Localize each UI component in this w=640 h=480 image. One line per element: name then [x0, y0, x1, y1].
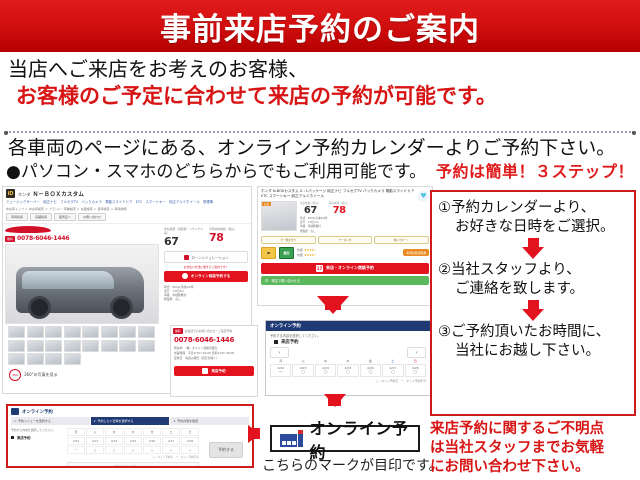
- tel-number[interactable]: 0078-6046-1446: [17, 235, 69, 242]
- form-step-1[interactable]: 1. 予約メニューを選択する: [11, 417, 90, 425]
- thumbnail[interactable]: [82, 340, 99, 352]
- form-date[interactable]: 4/28: [181, 437, 199, 445]
- form-availability[interactable]: ○: [143, 446, 161, 454]
- step-3-line-2: 当社にお越し下さい。: [438, 342, 628, 361]
- arrow-head-icon: [522, 247, 544, 259]
- calendar-availability: ○: [361, 370, 380, 375]
- form-option-label: 来店予約: [17, 435, 31, 440]
- page-title: 事前来店予約のご案内: [160, 4, 480, 49]
- detail-price-total: 支払総額（税込） 67: [300, 201, 321, 216]
- form-step-breadcrumb[interactable]: 1. 予約メニューを選択する 2. 予約したい日時を選択する 3. 予約内容を確…: [8, 417, 252, 425]
- calendar-day-cell[interactable]: 4/24 ○: [315, 364, 336, 377]
- favorite-heart-icon[interactable]: ♥: [418, 191, 429, 202]
- thumbnail[interactable]: [27, 353, 44, 365]
- calendar-icon: 17: [316, 265, 323, 272]
- phone-handset-icon: ✆: [265, 278, 268, 283]
- notice-line-2: は当社スタッフまでお気軽: [430, 439, 638, 458]
- radio-selected-icon: [11, 436, 14, 439]
- step-1-line-1: ①予約カレンダーより、: [438, 200, 595, 216]
- phone-card-number[interactable]: 0078-6046-1446: [171, 336, 257, 344]
- radio-selected-icon: [274, 340, 278, 344]
- intro-line-4: ●パソコン・スマホのどちらからでもご利用可能です。: [6, 161, 426, 183]
- calendar-icon: [202, 368, 208, 374]
- calendar-dow: 土: [382, 359, 403, 363]
- three-steps-panel: ①予約カレンダーより、 お好きな日時をご選択。 ②当社スタッフより、 ご連絡を致…: [430, 190, 636, 416]
- rating-stars-group: 外装 ★★★★☆ 内装 ★★★★☆: [297, 248, 316, 257]
- id-badge-icon: iD: [261, 247, 276, 259]
- price-body-value: 78: [209, 231, 250, 244]
- form-left-pane: 予約する内容を選択してください。 来店予約: [11, 428, 63, 468]
- car-photo-window: [22, 271, 114, 289]
- car-detail-title-text: ホンダ N-BOXカスタム G・Lパッケージ 純正ナビ フルセグTV バックカメ…: [261, 189, 414, 198]
- thumbnail[interactable]: [64, 326, 81, 338]
- calendar-availability: ○: [316, 370, 335, 375]
- thumbnail[interactable]: [119, 326, 136, 338]
- step-arrow-2: [438, 300, 628, 321]
- three-steps-tagline: 予約は簡単！３ステップ！: [436, 161, 634, 183]
- listing-tel-row[interactable]: 無料 0078-6046-1446: [5, 235, 159, 242]
- condition-report-button[interactable]: 車両状態評価書: [403, 249, 429, 256]
- price-total: 支払総額（消費税・リサイクル等） 67: [164, 227, 205, 248]
- stock-tag: 在庫: [262, 202, 271, 206]
- arrow-head-icon: [248, 425, 260, 443]
- form-dow: 火: [86, 428, 104, 436]
- calendar-day-cell[interactable]: 4/23 ○: [292, 364, 313, 377]
- step-3: ③ご予約頂いたお時間に、 当社にお越し下さい。: [438, 323, 628, 361]
- listing-spec-list: 年式 2012(平成24)年 走行 7.8万km 車検 車検整備付 修復歴 なし: [164, 285, 248, 301]
- shop-building-icon: [280, 430, 303, 447]
- pill-coupon[interactable]: クーポン付: [318, 236, 373, 244]
- car-detail-rows: 年式 2012(平成24)年 走行 7.8万km 車検 車検整備付 修復歴 なし: [300, 217, 429, 234]
- detail-price-body-value: 78: [329, 205, 350, 216]
- calendar-note: 予約する内容を選択してください。: [266, 331, 430, 339]
- calendar-day-cell[interactable]: 4/28 ○: [405, 364, 426, 377]
- form-date[interactable]: 4/22: [67, 437, 85, 445]
- form-availability[interactable]: ○: [162, 446, 180, 454]
- thumbnail[interactable]: [8, 340, 25, 352]
- online-consult-button[interactable]: オンライン商談予約する: [164, 271, 248, 282]
- guide-page: 事前来店予約のご案内 当店へご来店をお考えのお客様、 お客様のご予定に合わせて来…: [0, 0, 640, 480]
- step-2-line-1: ②当社スタッフより、: [438, 262, 581, 278]
- tab-vehicle-info[interactable]: 車両情報: [6, 213, 28, 221]
- arrow-detail-to-calendar: [325, 296, 341, 310]
- camera-360-icon: 360: [9, 369, 21, 381]
- phone-card-reserve-button[interactable]: 来店予約: [174, 366, 254, 376]
- online-reservation-caption: こちらのマークが目印です。: [262, 455, 443, 475]
- form-availability[interactable]: ○: [181, 446, 199, 454]
- car-detail-pills[interactable]: グー鑑定付き クーポン付 購入サポート: [258, 235, 432, 245]
- phone-card-row: 定休日 毎週火曜日（祝日を除く）: [174, 356, 254, 361]
- phone-card-header: 無料 お電話でのお問い合わせ・ご来店予約: [171, 326, 257, 336]
- listing-model: Ｎ－ＢＯＸカスタム: [33, 192, 84, 198]
- car-photo-wheel-front: [28, 296, 51, 319]
- form-step-2[interactable]: 2. 予約したい日時を選択する: [91, 417, 170, 425]
- shop-icon: [11, 408, 19, 415]
- price-total-label: 支払総額（消費税・リサイクル等）: [164, 227, 205, 235]
- visit-online-reserve-button[interactable]: 17 来店・オンライン商談予約: [261, 263, 429, 274]
- thumbnail[interactable]: [138, 340, 155, 352]
- intro-line-1: 当店へご来店をお考えのお客様、: [0, 56, 640, 82]
- thumbnail[interactable]: [119, 340, 136, 352]
- calendar-option-label: 来店予約: [281, 339, 299, 345]
- calendar-header: オンライン予約: [266, 321, 430, 331]
- online-consult-label: オンライン商談予約する: [191, 274, 231, 279]
- step-2: ②当社スタッフより、 ご連絡を致します。: [438, 261, 628, 299]
- listing-title-row: iD ホンダ Ｎ－ＢＯＸカスタム: [3, 187, 251, 200]
- step-1-line-2: お好きな日時をご選択。: [438, 218, 628, 237]
- calendar-availability: ○: [383, 370, 402, 375]
- thumbnail[interactable]: [138, 326, 155, 338]
- form-dow: 土: [162, 428, 180, 436]
- thumbnail[interactable]: [8, 326, 25, 338]
- site-logo-icon: iD: [6, 189, 15, 198]
- arrow-head-icon: [522, 309, 544, 321]
- phone-card-rows: 所在地 （株）ダイシン自動車販売 営業時間 平日9:30～19:00 日祝9:3…: [171, 344, 257, 363]
- rating-interior-stars: ★★★★☆: [304, 253, 316, 257]
- tab-contact[interactable]: お問い合わせ: [78, 213, 106, 221]
- visit-online-reserve-label: 来店・オンライン商談予約: [326, 265, 374, 271]
- form-body: 予約する内容を選択してください。 来店予約 月 火 水 木 金 土 日 4/22…: [8, 425, 252, 468]
- car-detail-rating: iD 鑑定 外装 ★★★★☆ 内装 ★★★★☆ 車両状態評価書: [258, 245, 432, 261]
- thumbnail[interactable]: [64, 353, 81, 365]
- calendar-dow: 水: [315, 359, 336, 363]
- form-calendar-grid[interactable]: 月 火 水 木 金 土 日 4/22 4/23 4/24 4/25 4/26 4…: [67, 428, 199, 454]
- calendar-availability: ○: [293, 370, 312, 375]
- form-availability[interactable]: ○: [124, 446, 142, 454]
- car-detail-main: 在庫 支払総額（税込） 67 車両本体（税込） 78 年式 2012(平成24)…: [258, 200, 432, 235]
- online-reservation-calendar-screenshot: オンライン予約 予約する内容を選択してください。 来店予約 ‹ › 月 火 水 …: [265, 320, 431, 396]
- listing-title: ホンダ Ｎ－ＢＯＸカスタム: [18, 190, 84, 198]
- calendar-day-cell[interactable]: 4/22 ー: [270, 364, 291, 377]
- spec-row: 修復歴 なし: [164, 297, 248, 301]
- arrow-form-to-button: [248, 428, 260, 439]
- form-dow: 木: [124, 428, 142, 436]
- photo-thumbnail-strip[interactable]: [5, 324, 159, 367]
- notice-line-3: にお問い合わせ下さい。: [430, 458, 638, 477]
- calendar-availability: ー: [271, 370, 290, 375]
- dealer-logo-swoosh: [5, 226, 51, 233]
- form-date[interactable]: 4/25: [124, 437, 142, 445]
- form-dow: 金: [143, 428, 161, 436]
- arrow-head-icon: [317, 296, 349, 314]
- form-step-3[interactable]: 3. 予約内容を確認: [170, 417, 249, 425]
- tel-free-badge: 無料: [5, 236, 15, 242]
- phone-icon: [182, 273, 188, 279]
- reservation-form-screenshot: オンライン予約 1. 予約メニューを選択する 2. 予約したい日時を選択する 3…: [6, 404, 254, 468]
- intro-block: 当店へご来店をお考えのお客様、 お客様のご予定に合わせて来店の予約が可能です。: [0, 56, 640, 110]
- phone-card-screenshot: 無料 お電話でのお問い合わせ・ご来店予約 0078-6046-1446 所在地 …: [170, 325, 258, 397]
- calendar-dow: 金: [360, 359, 381, 363]
- listing-brand: ホンダ: [18, 192, 31, 197]
- listing-left-column: 無料 0078-6046-1446: [3, 224, 161, 385]
- thumbnail[interactable]: [45, 353, 62, 365]
- thumbnail[interactable]: [101, 326, 118, 338]
- breadcrumb: 中古車トップ ＞ 中古車検索 ＞ ブランド・車種検索 ＞ 在庫検索 ＞ 愛車検索…: [3, 205, 251, 212]
- step-2-line-2: ご連絡を致します。: [438, 280, 628, 299]
- calendar-day-cell[interactable]: 4/25 ○: [337, 364, 358, 377]
- form-availability[interactable]: ○: [86, 446, 104, 454]
- form-hint: 予約する内容を選択してください。: [11, 428, 63, 432]
- thumbnail[interactable]: [8, 353, 25, 365]
- form-legend: ○：ネット予約可 ー：ネット予約不可: [67, 455, 199, 459]
- form-date[interactable]: 4/27: [162, 437, 180, 445]
- loan-simulation-label: ローンシミュレーション: [192, 255, 229, 260]
- thumbnail[interactable]: [82, 326, 99, 338]
- calendar-day-cell[interactable]: 4/26 ○: [360, 364, 381, 377]
- calendar-dow: 木: [337, 359, 358, 363]
- car-detail-title: ホンダ N-BOXカスタム G・Lパッケージ 純正ナビ フルセグTV バックカメ…: [258, 187, 432, 200]
- form-date[interactable]: 4/26: [143, 437, 161, 445]
- detail-price-body: 車両本体（税込） 78: [329, 201, 350, 216]
- calendar-dow: 日: [405, 359, 426, 363]
- pill-inspection[interactable]: グー鑑定付き: [261, 236, 316, 244]
- calendar-next-button[interactable]: ›: [407, 347, 426, 358]
- form-submit-pane: 予約する: [203, 428, 249, 468]
- online-reservation-mark-button[interactable]: オンライン予約: [270, 425, 420, 452]
- form-option-visit[interactable]: 来店予約: [11, 435, 63, 440]
- arrow-head-icon: [324, 394, 346, 407]
- tab-shop-info[interactable]: 店舗情報: [30, 213, 52, 221]
- pill-support[interactable]: 購入サポート: [374, 236, 429, 244]
- price-total-value: 67: [164, 235, 205, 248]
- form-dow: 日: [181, 428, 199, 436]
- thumbnail[interactable]: [64, 340, 81, 352]
- thumbnail[interactable]: [27, 340, 44, 352]
- notice-line-1: 来店予約に関するご不明点: [430, 420, 638, 439]
- phone-card-reserve-label: 来店予約: [211, 369, 225, 374]
- calendar-dow: 月: [270, 359, 291, 363]
- calendar-grid[interactable]: 月 火 水 木 金 土 日 4/22 ー 4/23 ○ 4/24 ○ 4/25 …: [266, 358, 430, 379]
- divider-dotted: [6, 131, 634, 134]
- inspection-badge-icon: 鑑定: [279, 247, 294, 259]
- step-1: ①予約カレンダーより、 お好きな日時をご選択。: [438, 199, 628, 237]
- car-photo-wheel-rear: [110, 296, 133, 319]
- form-availability[interactable]: ー: [67, 446, 85, 454]
- step-arrow-1: [438, 238, 628, 259]
- view-360-link[interactable]: 360 360°の写真を見る: [5, 367, 159, 383]
- intro-line-2: お客様のご予定に合わせて来店の予約が可能です。: [0, 82, 640, 110]
- arrow-calendar-to-button: [328, 394, 341, 406]
- free-call-badge: 無料: [173, 328, 183, 334]
- step-3-line-1: ③ご予約頂いたお時間に、: [438, 324, 610, 340]
- detail-row: 修復歴 なし: [300, 230, 429, 234]
- form-calendar-pane: 月 火 水 木 金 土 日 4/22 4/23 4/24 4/25 4/26 4…: [67, 428, 199, 468]
- thumbnail[interactable]: [101, 340, 118, 352]
- car-detail-screenshot: ホンダ N-BOXカスタム G・Lパッケージ 純正ナビ フルセグTV バックカメ…: [257, 186, 433, 306]
- calendar-legend: ○：ネット予約可 ー：ネット予約不可: [266, 379, 430, 383]
- rating-interior-label: 内装: [297, 253, 303, 257]
- form-date[interactable]: 4/24: [105, 437, 123, 445]
- form-dow: 水: [105, 428, 123, 436]
- call-inquiry-button[interactable]: ✆ 電話で問い合わせる: [261, 276, 429, 285]
- car-detail-price-row: 支払総額（税込） 67 車両本体（税込） 78: [300, 201, 429, 216]
- listing-tabs[interactable]: 車両情報 店舗情報 販売店へ お問い合わせ: [3, 212, 251, 223]
- price-body: 車両本体価格（税込） 78: [209, 227, 250, 248]
- contact-notice: 来店予約に関するご不明点 は当社スタッフまでお気軽 にお問い合わせ下さい。: [430, 420, 638, 477]
- car-detail-specs: 支払総額（税込） 67 車両本体（税込） 78 年式 2012(平成24)年 走…: [300, 201, 429, 234]
- tab-to-dealer[interactable]: 販売店へ: [54, 213, 76, 221]
- calendar-availability: ○: [338, 370, 357, 375]
- form-header: オンライン予約: [8, 406, 252, 417]
- listing-price-row: 支払総額（消費税・リサイクル等） 67 車両本体価格（税込） 78: [162, 226, 250, 248]
- view-360-label: 360°の写真を見る: [24, 372, 58, 378]
- calendar-dow: 火: [292, 359, 313, 363]
- page-header: 事前来店予約のご案内: [0, 0, 640, 52]
- calculator-icon: [184, 255, 189, 260]
- form-date[interactable]: 4/23: [86, 437, 104, 445]
- thumbnail[interactable]: [45, 326, 62, 338]
- thumbnail[interactable]: [27, 326, 44, 338]
- calendar-availability: ○: [406, 370, 425, 375]
- calendar-prev-button[interactable]: ‹: [270, 347, 289, 358]
- phone-card-label: お電話でのお問い合わせ・ご来店予約: [185, 329, 233, 333]
- car-main-photo[interactable]: [5, 244, 159, 324]
- form-availability[interactable]: ○: [105, 446, 123, 454]
- form-submit-button[interactable]: 予約する: [209, 442, 243, 458]
- calendar-day-cell[interactable]: 4/27 ○: [382, 364, 403, 377]
- intro-line-3: 各車両のページにある、オンライン予約カレンダーよりご予約下さい。: [8, 136, 615, 160]
- thumbnail[interactable]: [45, 340, 62, 352]
- detail-price-total-value: 67: [300, 205, 321, 216]
- rating-exterior-stars: ★★★★☆: [304, 248, 316, 252]
- rating-exterior-label: 外装: [297, 248, 303, 252]
- call-inquiry-label: 電話で問い合わせる: [271, 278, 300, 283]
- loan-simulation-button[interactable]: ローンシミュレーション: [164, 251, 248, 263]
- loan-hint: お支払い方法に関するご案内です！: [162, 265, 250, 269]
- form-title: オンライン予約: [22, 409, 53, 415]
- calendar-nav[interactable]: ‹ ›: [266, 347, 430, 358]
- calendar-option-visit[interactable]: 来店予約: [266, 339, 430, 347]
- form-dow: 月: [67, 428, 85, 436]
- form-time-slot-bar[interactable]: 希望時間帯を選択してください: [67, 462, 199, 468]
- car-detail-thumbnail[interactable]: 在庫: [261, 201, 297, 231]
- dealer-logo: [5, 226, 159, 233]
